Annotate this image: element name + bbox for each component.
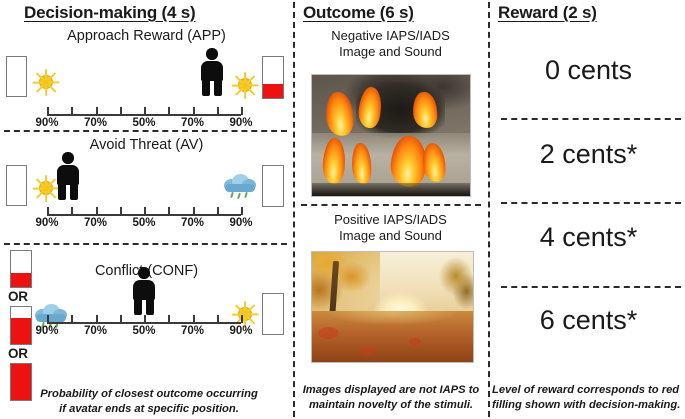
or-label-2: OR bbox=[8, 346, 28, 361]
avatar-av bbox=[53, 152, 83, 200]
reward-separator-1 bbox=[501, 118, 681, 120]
header-reward: Reward (2 s) bbox=[498, 3, 597, 23]
autumn-park-photo bbox=[311, 251, 474, 363]
reward-amount-0: 0 cents bbox=[492, 55, 685, 86]
reward-bar-conf-option-3 bbox=[10, 363, 32, 401]
caption-positive-outcome: Positive IAPS/IADS Image and Sound bbox=[293, 212, 488, 244]
reward-bar-conf-option-1 bbox=[10, 250, 32, 288]
reward-bar-av-right bbox=[262, 165, 284, 207]
sun-icon bbox=[33, 69, 59, 95]
avatar-app bbox=[197, 48, 227, 96]
footnote-right: Level of reward corresponds to red filli… bbox=[492, 383, 682, 413]
axis-tick-label: 70% bbox=[181, 217, 204, 229]
reward-bar-fill bbox=[11, 318, 31, 344]
reward-bar-conf-right bbox=[262, 293, 284, 335]
axis-tick-label: 90% bbox=[35, 117, 58, 129]
reward-separator-3 bbox=[501, 286, 681, 288]
axis-tick-label: 90% bbox=[35, 217, 58, 229]
avatar-body bbox=[133, 280, 155, 300]
reward-amount-2: 4 cents* bbox=[492, 222, 685, 253]
axis-tick-label: 50% bbox=[132, 117, 155, 129]
avatar-leg-right bbox=[146, 298, 154, 315]
caption-negative-outcome: Negative IAPS/IADS Image and Sound bbox=[293, 28, 488, 60]
or-label-1: OR bbox=[8, 289, 28, 304]
axis-tick-label: 70% bbox=[84, 217, 107, 229]
reward-bar-fill bbox=[263, 84, 283, 98]
axis-tick-label: 70% bbox=[84, 325, 107, 337]
rain-drop bbox=[230, 192, 234, 198]
avatar-leg-left bbox=[134, 298, 142, 315]
cloud-base bbox=[36, 314, 66, 322]
reward-bar-conf-option-2 bbox=[10, 306, 32, 345]
reward-amount-3: 6 cents* bbox=[492, 305, 685, 336]
reward-amount-1: 2 cents* bbox=[492, 139, 685, 170]
outcome-separator bbox=[301, 204, 481, 206]
trial-panel-av: Avoid Threat (AV) bbox=[0, 134, 293, 243]
rain-drop bbox=[237, 193, 241, 199]
footnote-left: Probability of closest outcome occurring… bbox=[38, 387, 260, 417]
rain-cloud-icon bbox=[223, 173, 257, 200]
burning-building-photo bbox=[311, 74, 471, 197]
column-divider-2 bbox=[488, 2, 490, 417]
cloud-base bbox=[225, 184, 255, 192]
axis-tick-label: 90% bbox=[35, 325, 58, 337]
trial-title-app: Approach Reward (APP) bbox=[0, 28, 293, 44]
axis-tick-label: 70% bbox=[84, 117, 107, 129]
figure-root: Decision-making (4 s) Outcome (6 s) Rewa… bbox=[0, 0, 685, 419]
reward-bar-fill bbox=[11, 273, 31, 287]
avatar-leg-right bbox=[70, 183, 78, 200]
column-divider-1 bbox=[293, 2, 295, 417]
footnote-middle: Images displayed are not IAPS to maintai… bbox=[300, 383, 482, 413]
reward-bar-av-left bbox=[6, 165, 27, 206]
axis-tick-label: 90% bbox=[229, 325, 252, 337]
axis-tick-label: 70% bbox=[181, 117, 204, 129]
trial-panel-app: Approach Reward (APP) bbox=[0, 26, 293, 130]
avatar-leg-right bbox=[214, 79, 222, 96]
avatar-head bbox=[138, 267, 150, 279]
axis-tick-label: 90% bbox=[229, 117, 252, 129]
avatar-leg-left bbox=[58, 183, 66, 200]
avatar-conf bbox=[129, 267, 159, 315]
reward-bar-fill bbox=[11, 364, 31, 400]
avatar-body bbox=[57, 165, 79, 185]
avatar-head bbox=[62, 152, 74, 164]
reward-bar-app-right bbox=[262, 56, 284, 99]
axis-tick-label: 50% bbox=[132, 217, 155, 229]
trial-separator-2 bbox=[4, 243, 287, 245]
rain-drop bbox=[244, 192, 248, 198]
avatar-body bbox=[201, 61, 223, 81]
axis-tick-label: 70% bbox=[181, 325, 204, 337]
reward-separator-2 bbox=[501, 202, 681, 204]
header-decision-making: Decision-making (4 s) bbox=[24, 3, 196, 23]
avatar-leg-left bbox=[202, 79, 210, 96]
sun-icon bbox=[232, 72, 258, 98]
header-outcome: Outcome (6 s) bbox=[303, 3, 414, 23]
avatar-head bbox=[206, 48, 218, 60]
trial-title-av: Avoid Threat (AV) bbox=[0, 137, 293, 153]
trial-separator-1 bbox=[4, 130, 287, 132]
axis-tick-label: 50% bbox=[132, 325, 155, 337]
axis-tick-label: 90% bbox=[229, 217, 252, 229]
reward-bar-app-left bbox=[6, 56, 27, 97]
